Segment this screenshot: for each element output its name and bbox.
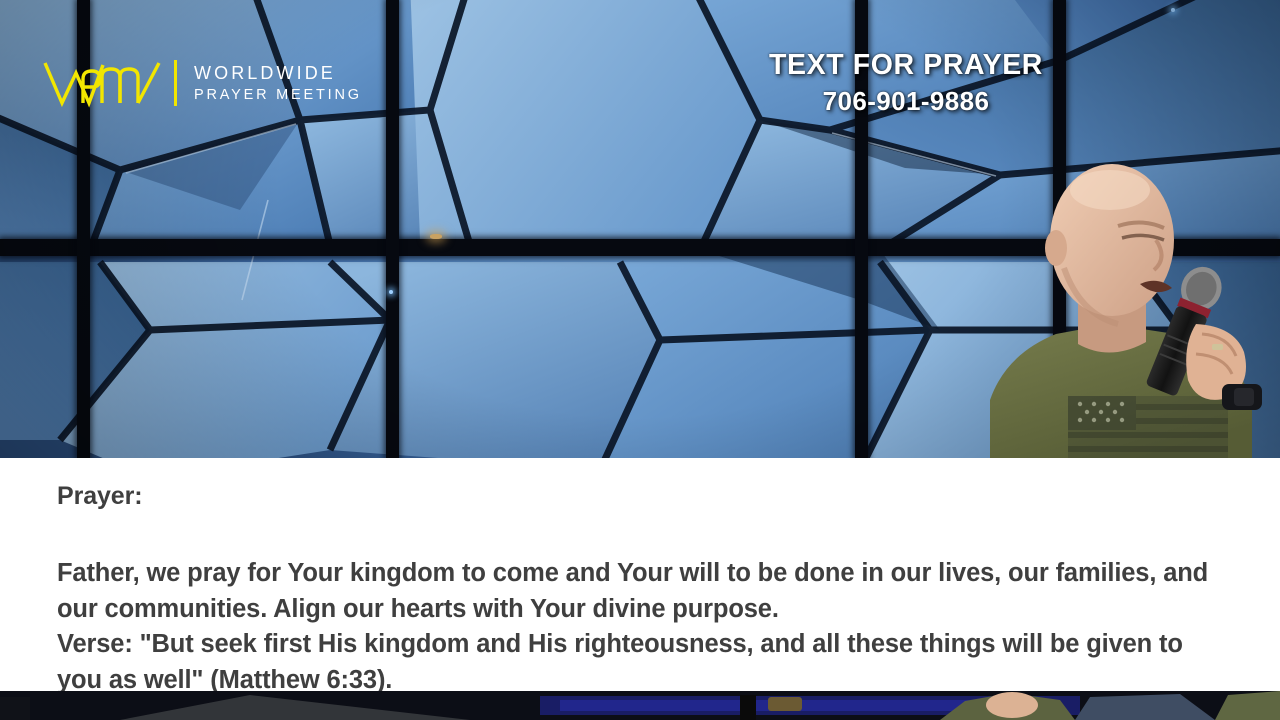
broadcast-stage: WORLDWIDE PRAYER MEETING TEXT FOR PRAYER… [0, 0, 1280, 720]
caption-paragraph-1: Father, we pray for Your kingdom to come… [57, 556, 1228, 627]
speaker-on-camera [960, 148, 1280, 458]
caption-body: Father, we pray for Your kingdom to come… [57, 556, 1228, 698]
caption-panel: Prayer: Father, we pray for Your kingdom… [0, 458, 1280, 691]
video-lower-strip [0, 691, 1280, 720]
caption-paragraph-2: Verse: "But seek first His kingdom and H… [57, 627, 1228, 698]
caption-label: Prayer: [57, 482, 1228, 511]
text-for-prayer-overlay: TEXT FOR PRAYER 706-901-9886 [769, 49, 1043, 117]
wpm-monogram-icon [42, 57, 162, 109]
cta-phone-number: 706-901-9886 [769, 86, 1043, 117]
wpm-logo: WORLDWIDE PRAYER MEETING [42, 55, 362, 111]
logo-line-1: WORLDWIDE [194, 61, 362, 86]
logo-divider [174, 60, 177, 106]
lower-strip-scene [0, 691, 1280, 720]
logo-line-2: PRAYER MEETING [194, 85, 362, 105]
video-backdrop: WORLDWIDE PRAYER MEETING TEXT FOR PRAYER… [0, 0, 1280, 458]
cta-title: TEXT FOR PRAYER [769, 49, 1043, 82]
